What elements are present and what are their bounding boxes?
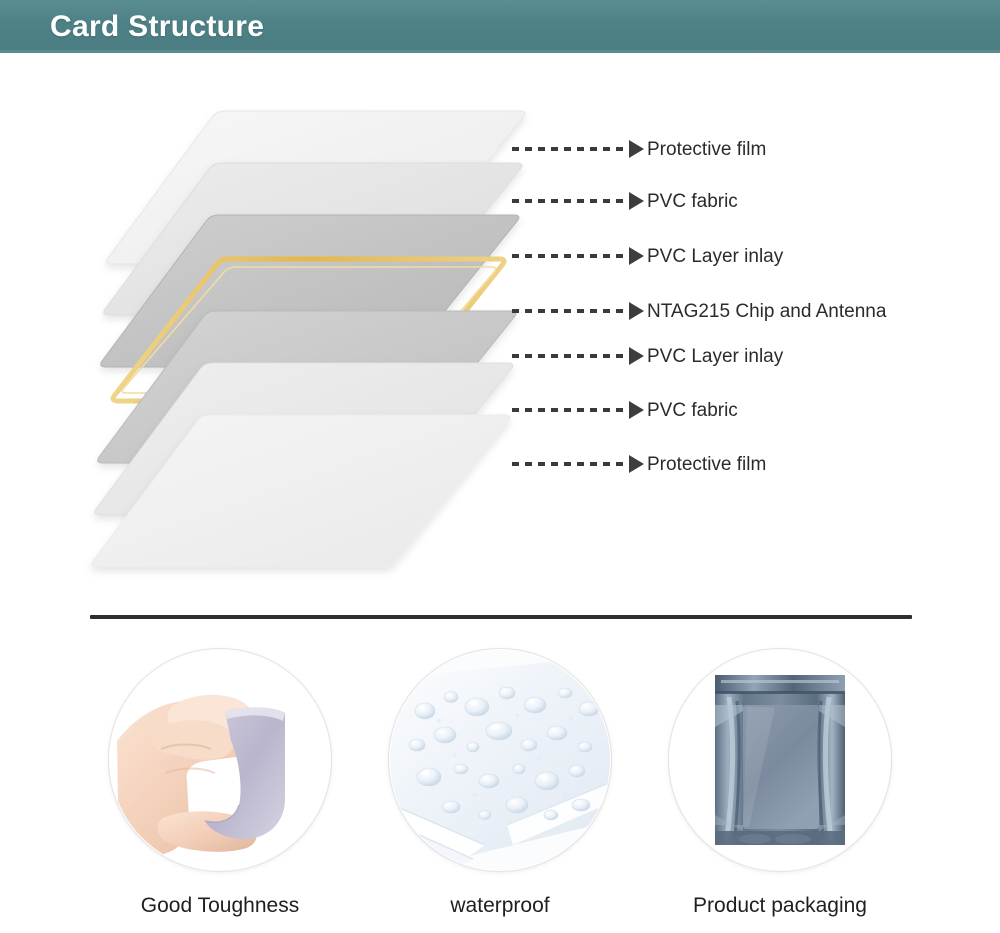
hand-bending-card-photo [108,648,332,872]
layer-callouts: Protective film PVC fabric PVC Layer inl… [0,53,1000,613]
callout-label: NTAG215 Chip and Antenna [647,302,886,321]
callout-label: Protective film [647,140,766,159]
arrow-right-icon [629,347,644,365]
page-header-bar: Card Structure [0,0,1000,53]
card-structure-diagram: Protective film PVC fabric PVC Layer inl… [0,53,1000,613]
page-title: Card Structure [50,10,264,44]
callout-label: PVC fabric [647,401,738,420]
dashed-leader-line [512,147,630,151]
dashed-leader-line [512,254,630,258]
arrow-right-icon [629,247,644,265]
zip-bag-package-photo [668,648,892,872]
callout-label: PVC Layer inlay [647,247,783,266]
arrow-right-icon [629,401,644,419]
callout-label: Protective film [647,455,766,474]
dashed-leader-line [512,199,630,203]
dashed-leader-line [512,462,630,466]
dashed-leader-line [512,354,630,358]
feature-row: Good Toughness [0,648,1000,933]
section-divider [90,615,912,619]
feature-good-toughness: Good Toughness [80,648,360,918]
feature-waterproof: waterproof [360,648,640,918]
callout-pvc-fabric-top: PVC fabric [512,190,738,212]
feature-product-packaging: Product packaging [640,648,920,918]
callout-protective-film-bottom: Protective film [512,453,766,475]
dashed-leader-line [512,408,630,412]
feature-label: Product packaging [693,894,867,918]
callout-pvc-fabric-bottom: PVC fabric [512,399,738,421]
callout-pvc-inlay-lower: PVC Layer inlay [512,345,783,367]
arrow-right-icon [629,140,644,158]
water-droplets-on-card-photo [388,648,612,872]
callout-ntag215-chip-and-antenna: NTAG215 Chip and Antenna [512,300,886,322]
callout-pvc-inlay-upper: PVC Layer inlay [512,245,783,267]
callout-label: PVC Layer inlay [647,347,783,366]
arrow-right-icon [629,455,644,473]
feature-label: Good Toughness [141,894,299,918]
arrow-right-icon [629,302,644,320]
feature-label: waterproof [450,894,549,918]
callout-protective-film-top: Protective film [512,138,766,160]
arrow-right-icon [629,192,644,210]
dashed-leader-line [512,309,630,313]
callout-label: PVC fabric [647,192,738,211]
